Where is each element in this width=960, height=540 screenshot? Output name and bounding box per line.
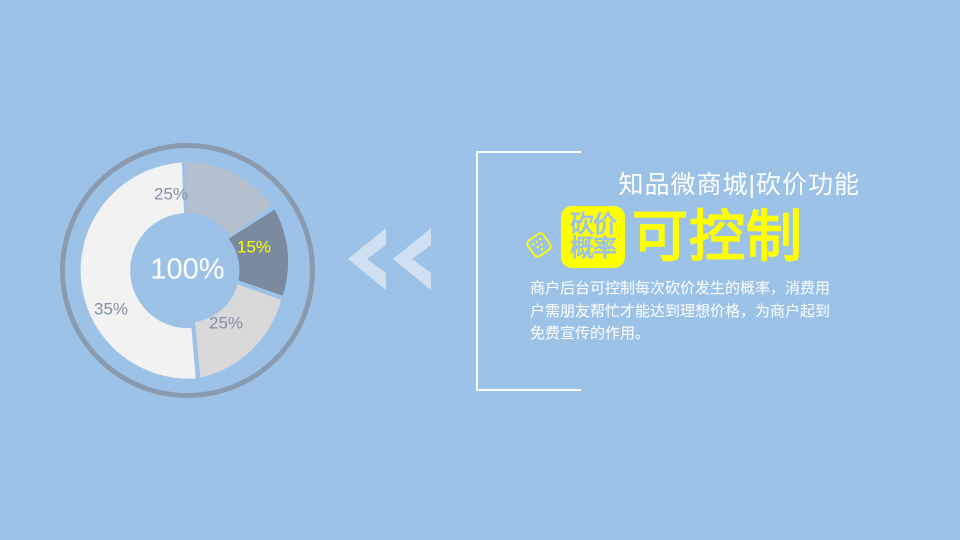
bracket-bottom-edge [476, 389, 581, 391]
slide-canvas: 25% 15% 25% 35% 100% 知品微商城|砍价功能 [0, 0, 960, 540]
bracket-left-edge [476, 151, 478, 391]
donut-chart-svg: 25% 15% 25% 35% 100% [55, 138, 320, 403]
chevron-left-icon-2 [393, 228, 431, 290]
content-panel: 知品微商城|砍价功能 砍价 概率 [524, 170, 860, 346]
double-chevron-left-icon[interactable] [348, 228, 433, 290]
donut-label-3: 25% [209, 313, 243, 332]
bracket-top-edge [476, 151, 581, 153]
donut-center-label: 100% [150, 254, 224, 286]
dice-icon [524, 230, 554, 260]
probability-badge: 砍价 概率 [561, 206, 625, 268]
donut-label-2: 15% [237, 237, 271, 256]
chevron-svg [348, 228, 433, 290]
chevron-left-icon-1 [348, 228, 386, 290]
donut-label-1: 25% [154, 184, 188, 203]
donut-label-4: 35% [94, 299, 128, 318]
body-copy: 商户后台可控制每次砍价发生的概率，消费用户需朋友帮忙才能达到理想价格，为商户起到… [530, 278, 830, 346]
headline: 可控制 [632, 209, 803, 265]
headline-row: 砍价 概率 可控制 [524, 206, 860, 268]
dice-icon-svg [524, 230, 554, 260]
badge-line-2: 概率 [570, 237, 616, 261]
donut-chart: 25% 15% 25% 35% 100% [55, 138, 320, 403]
badge-line-1: 砍价 [570, 213, 616, 237]
subtitle: 知品微商城|砍价功能 [524, 170, 860, 200]
